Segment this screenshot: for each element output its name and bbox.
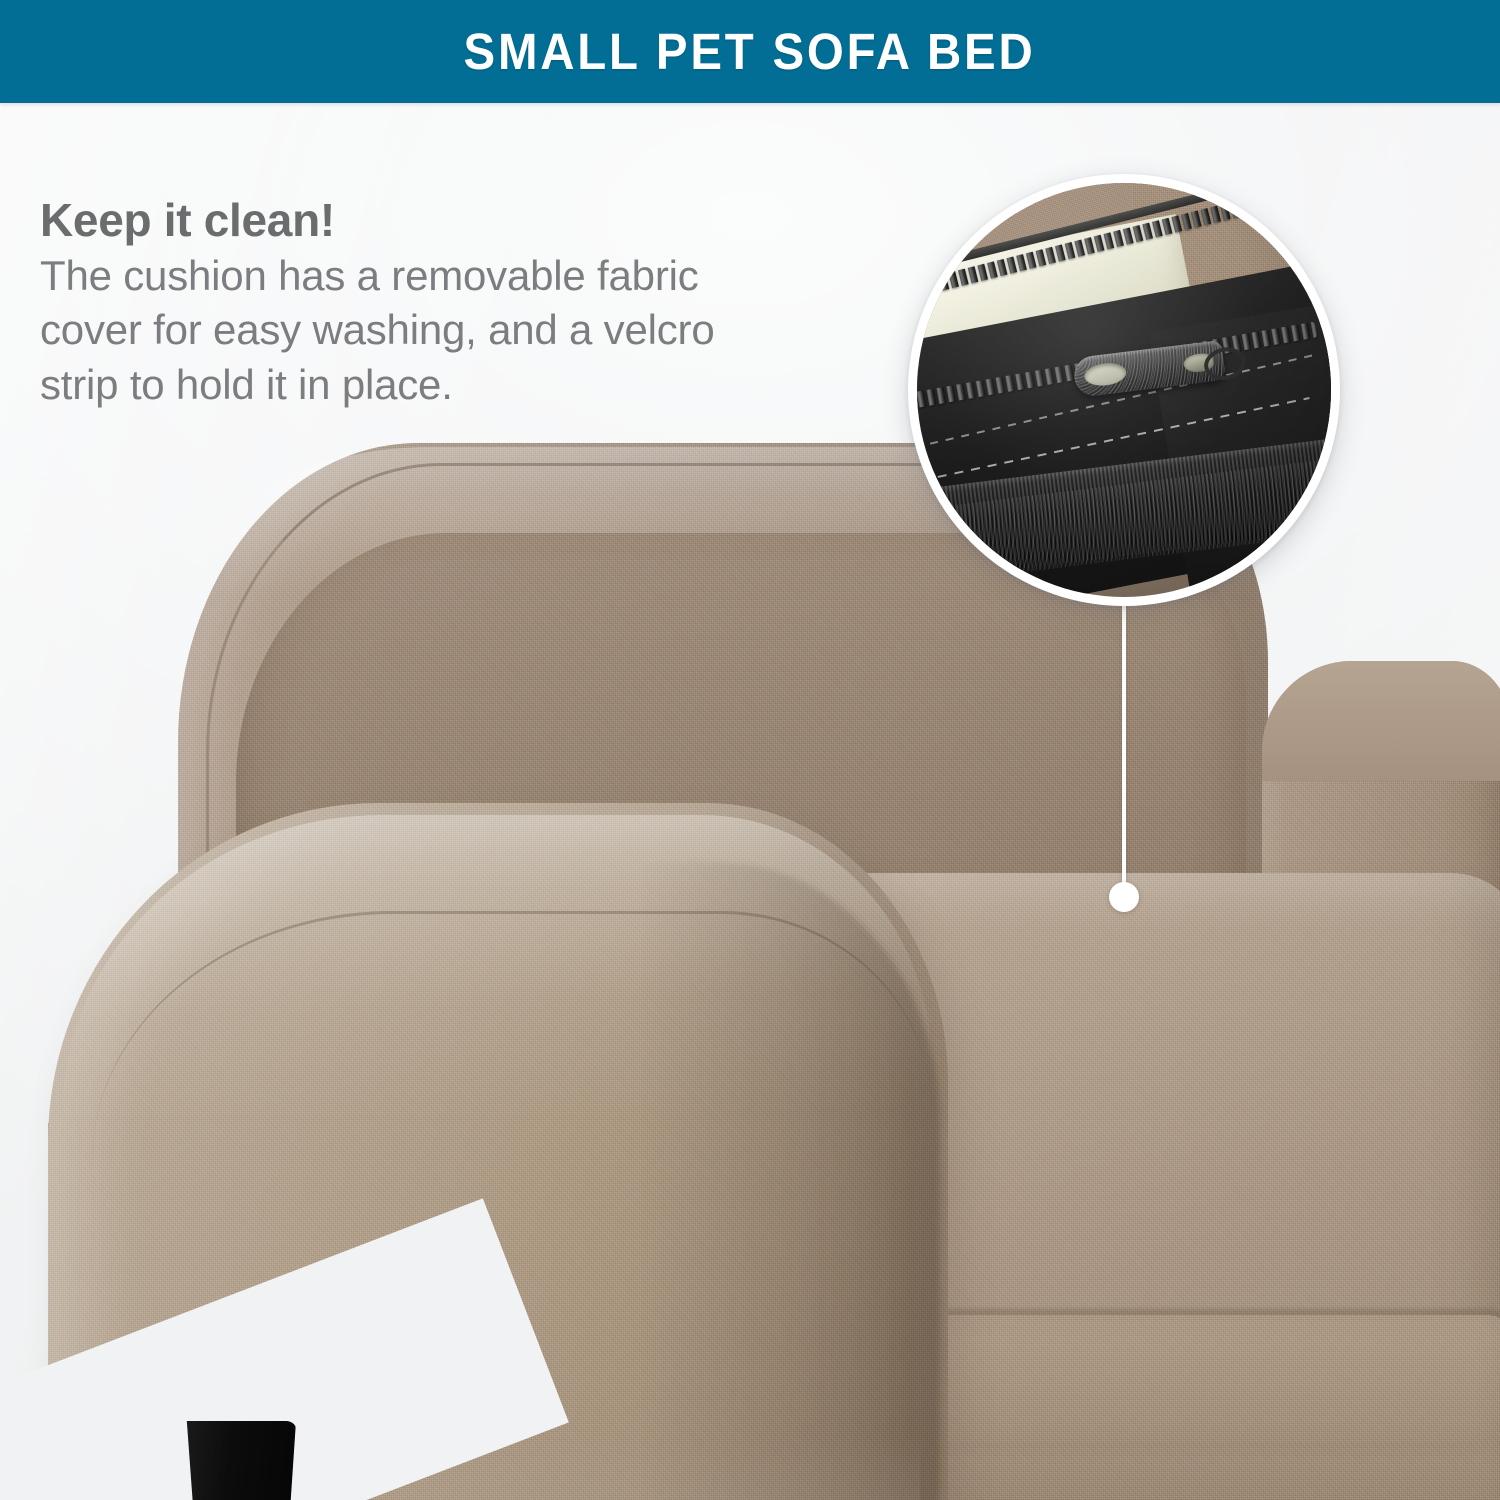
- callout-anchor-dot: [1109, 882, 1139, 912]
- sofa-front-leg: [176, 1421, 296, 1500]
- zipper-detail-photo: [917, 183, 1331, 597]
- feature-body: The cushion has a removable fabric cover…: [40, 249, 900, 413]
- fabric-weave-texture: [880, 1443, 1500, 1500]
- feature-body-line-3: strip to hold it in place.: [40, 358, 900, 413]
- feature-body-line-2: cover for easy washing, and a velcro: [40, 303, 900, 358]
- feature-copy-block: Keep it clean! The cushion has a removab…: [40, 196, 900, 413]
- sofa-base-skirt: [880, 1443, 1500, 1500]
- callout-leader-line: [1122, 600, 1126, 892]
- zipper-detail-inset: [908, 174, 1340, 606]
- right-armrest-top-highlight: [1262, 661, 1500, 781]
- banner-title-text: SMALL PET SOFA BED: [464, 22, 1036, 81]
- feature-body-line-1: The cushion has a removable fabric: [40, 249, 900, 304]
- product-marketing-image: SMALL PET SOFA BED Keep it clean! The cu…: [0, 0, 1500, 1500]
- feature-heading: Keep it clean!: [40, 196, 900, 245]
- title-banner: SMALL PET SOFA BED: [0, 0, 1500, 103]
